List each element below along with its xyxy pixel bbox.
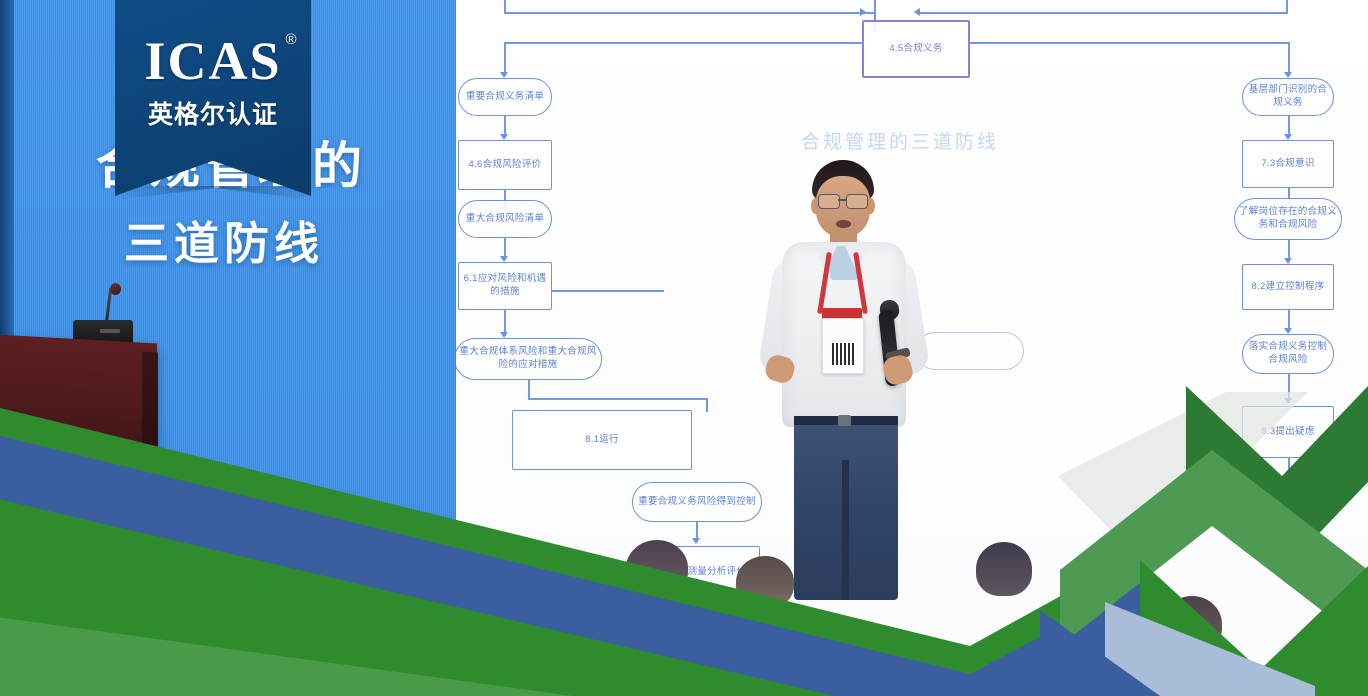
connector bbox=[970, 42, 1290, 44]
arrow-icon bbox=[1284, 398, 1292, 404]
glasses-bridge-icon bbox=[838, 199, 846, 201]
connector bbox=[504, 0, 506, 13]
audience-head bbox=[736, 556, 794, 608]
icas-logo-text: ICAS ® bbox=[144, 34, 281, 88]
flow-node-left-4: 6.1应对风险和机遇的措施 bbox=[458, 262, 552, 310]
icas-chinese-name: 英格尔认证 bbox=[148, 95, 278, 131]
speaker-mouth bbox=[836, 220, 851, 228]
wall-title-line2: 三道防线 bbox=[124, 207, 324, 272]
audience-head bbox=[626, 540, 688, 596]
arrow-icon bbox=[1284, 538, 1292, 544]
flow-node-right-5: 落实合规义务控制合规风险 bbox=[1242, 334, 1334, 374]
connector bbox=[918, 12, 1288, 14]
speaker-figure bbox=[760, 160, 980, 620]
icas-wordmark: ICAS bbox=[144, 31, 281, 91]
audience-head bbox=[1162, 596, 1222, 652]
flow-node-right-7: 疑似不合规 bbox=[1234, 484, 1342, 520]
flow-node-left-6: 8.1运行 bbox=[512, 410, 692, 470]
arrow-icon bbox=[860, 8, 866, 16]
flow-node-left-2: 4.6合规风险评价 bbox=[458, 140, 552, 190]
flow-node-right-6: 8.3提出疑虑 bbox=[1242, 406, 1334, 458]
podium bbox=[0, 334, 157, 451]
conference-badge bbox=[822, 318, 864, 374]
registered-mark-icon: ® bbox=[285, 32, 298, 47]
flow-node-left-1: 重要合规义务清单 bbox=[458, 78, 552, 116]
flow-node-right-1: 基层部门识别的合规义务 bbox=[1242, 78, 1334, 116]
glasses-lens-right-icon bbox=[846, 194, 868, 209]
flow-node-left-5: 重大合规体系风险和重大合规风险的应对措施 bbox=[456, 338, 602, 380]
podium-side-panel bbox=[142, 352, 158, 451]
connector bbox=[528, 380, 530, 400]
flow-node-right-4: 8.2建立控制程序 bbox=[1242, 264, 1334, 310]
connector bbox=[504, 12, 876, 14]
gooseneck-mic-head-icon bbox=[110, 283, 121, 295]
arrow-icon bbox=[914, 8, 920, 16]
slide-watermark-title: 合规管理的三道防线 bbox=[801, 127, 999, 154]
flow-node-right-2: 7.3合规意识 bbox=[1242, 140, 1334, 188]
audience-head bbox=[976, 542, 1032, 596]
glasses-lens-left-icon bbox=[818, 194, 840, 209]
flow-node-central: 4.5合规义务 bbox=[862, 20, 970, 78]
pants-leg-gap bbox=[842, 460, 849, 600]
belt-buckle-icon bbox=[838, 415, 851, 426]
connector bbox=[1288, 42, 1290, 76]
connector bbox=[706, 398, 708, 412]
connector bbox=[1286, 0, 1288, 13]
connector bbox=[504, 42, 506, 76]
presentation-photo: 合规管理的 三道防线 ICAS ® 英格尔认证 合规管理的三道防线 4.5合规义… bbox=[0, 0, 1368, 696]
flow-node-right-3: 了解岗位存在的合规义务和合规风险 bbox=[1234, 198, 1342, 240]
flow-node-left-3: 重大合规风险清单 bbox=[458, 200, 552, 238]
connector bbox=[552, 290, 664, 292]
connector bbox=[528, 398, 708, 400]
connector bbox=[504, 42, 862, 44]
arrow-icon bbox=[692, 538, 700, 544]
flow-node-left-7: 重要合规义务风险得到控制 bbox=[632, 482, 762, 522]
